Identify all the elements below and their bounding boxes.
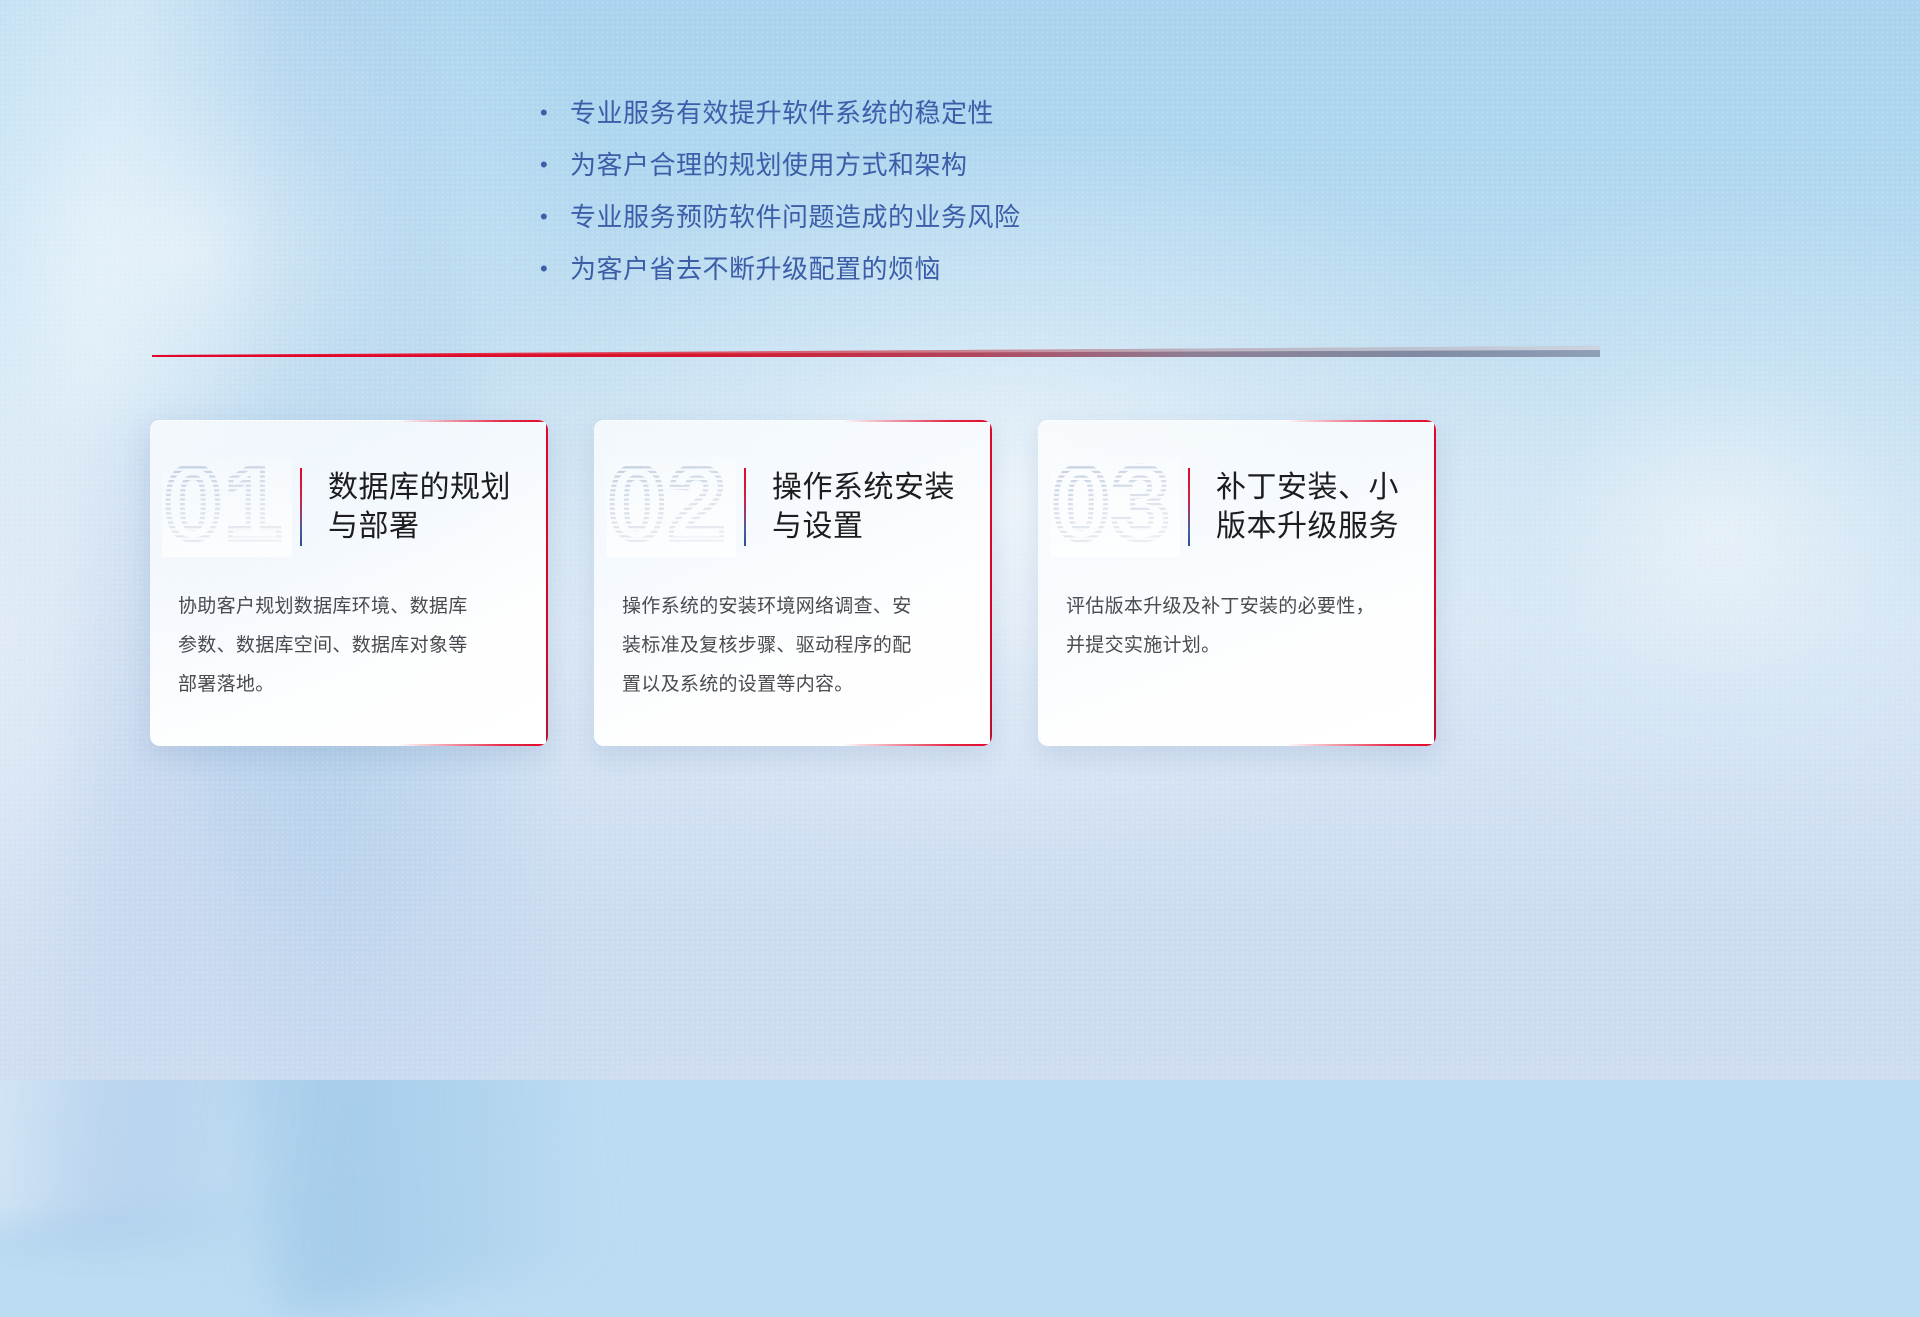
card-header: 03 补丁安装、小 版本升级服务	[1038, 448, 1436, 566]
feature-card-row: 01 数据库的规划 与部署 协助客户规划数据库环境、数据库 参数、数据库空间、数…	[150, 420, 1770, 746]
bullet-dot-icon: •	[540, 206, 570, 228]
bullet-text: 为客户省去不断升级配置的烦恼	[570, 249, 941, 286]
bullet-item: • 专业服务预防软件问题造成的业务风险	[540, 197, 1360, 249]
striped-number-icon: 02	[606, 457, 736, 557]
card-number-graphic: 02	[594, 457, 744, 557]
feature-card[interactable]: 02 操作系统安装 与设置 操作系统的安装环境网络调查、安 装标准及复核步骤、驱…	[594, 420, 992, 746]
card-top-accent-bar	[1286, 420, 1436, 422]
card-title: 操作系统安装 与设置	[772, 468, 955, 546]
bullet-dot-icon: •	[540, 258, 570, 280]
feature-card[interactable]: 03 补丁安装、小 版本升级服务 评估版本升级及补丁安装的必要性， 并提交实施计…	[1038, 420, 1436, 746]
card-bottom-accent-bar	[842, 744, 992, 746]
card-title: 补丁安装、小 版本升级服务	[1216, 468, 1399, 546]
striped-number-icon: 01	[162, 457, 292, 557]
bullet-text: 为客户合理的规划使用方式和架构	[570, 145, 968, 182]
card-header: 01 数据库的规划 与部署	[150, 448, 548, 566]
card-body-text: 协助客户规划数据库环境、数据库 参数、数据库空间、数据库对象等 部署落地。	[178, 588, 524, 705]
feature-card[interactable]: 01 数据库的规划 与部署 协助客户规划数据库环境、数据库 参数、数据库空间、数…	[150, 420, 548, 746]
striped-number-icon: 03	[1050, 457, 1180, 557]
section-divider	[152, 346, 1600, 364]
bullet-text: 专业服务有效提升软件系统的稳定性	[570, 93, 994, 130]
card-top-accent-bar	[398, 420, 548, 422]
card-title-rule	[300, 468, 302, 546]
card-top-accent-bar	[842, 420, 992, 422]
bullet-item: • 为客户合理的规划使用方式和架构	[540, 145, 1360, 197]
bullet-dot-icon: •	[540, 102, 570, 124]
card-body-text: 操作系统的安装环境网络调查、安 装标准及复核步骤、驱动程序的配 置以及系统的设置…	[622, 588, 968, 705]
card-title-rule	[1188, 468, 1190, 546]
card-number-graphic: 01	[150, 457, 300, 557]
card-bottom-accent-bar	[1286, 744, 1436, 746]
card-title: 数据库的规划 与部署	[328, 468, 511, 546]
bullet-list: • 专业服务有效提升软件系统的稳定性 • 为客户合理的规划使用方式和架构 • 专…	[540, 93, 1360, 301]
divider-wedge-icon	[152, 346, 1600, 364]
bullet-text: 专业服务预防软件问题造成的业务风险	[570, 197, 1021, 234]
card-title-rule	[744, 468, 746, 546]
card-header: 02 操作系统安装 与设置	[594, 448, 992, 566]
card-bottom-accent-bar	[398, 744, 548, 746]
card-body-text: 评估版本升级及补丁安装的必要性， 并提交实施计划。	[1066, 588, 1412, 666]
bullet-item: • 为客户省去不断升级配置的烦恼	[540, 249, 1360, 301]
bullet-dot-icon: •	[540, 154, 570, 176]
card-number-graphic: 03	[1038, 457, 1188, 557]
bullet-item: • 专业服务有效提升软件系统的稳定性	[540, 93, 1360, 145]
